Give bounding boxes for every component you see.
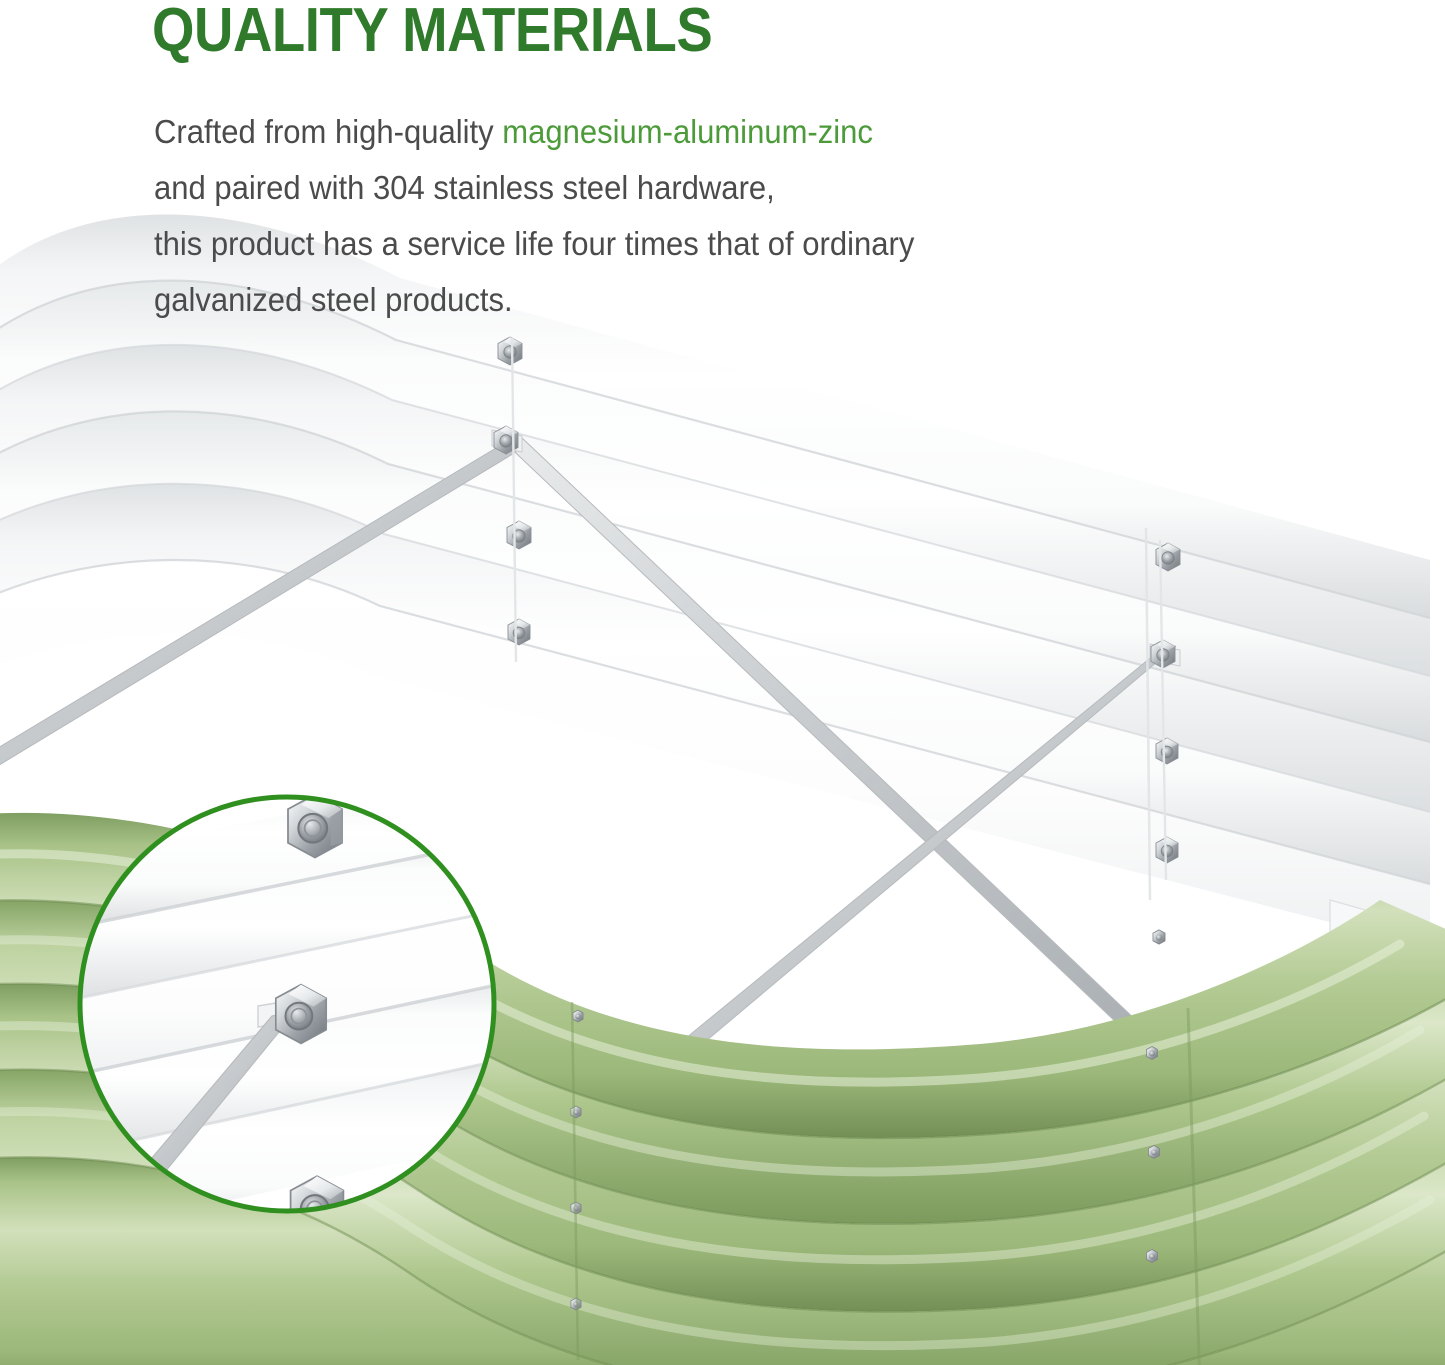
description-line-4: galvanized steel products.: [154, 272, 914, 328]
description-paragraph: Crafted from high-quality magnesium-alum…: [154, 104, 914, 328]
product-feature-image: QUALITY MATERIALS Crafted from high-qual…: [0, 0, 1445, 1365]
page-title: QUALITY MATERIALS: [152, 0, 712, 66]
description-line-3: this product has a service life four tim…: [154, 216, 914, 272]
description-line-1-plain: Crafted from high-quality: [154, 113, 502, 150]
material-highlight: magnesium-aluminum-zinc: [502, 113, 873, 150]
description-line-2: and paired with 304 stainless steel hard…: [154, 160, 914, 216]
description-line-1: Crafted from high-quality magnesium-alum…: [154, 104, 914, 160]
